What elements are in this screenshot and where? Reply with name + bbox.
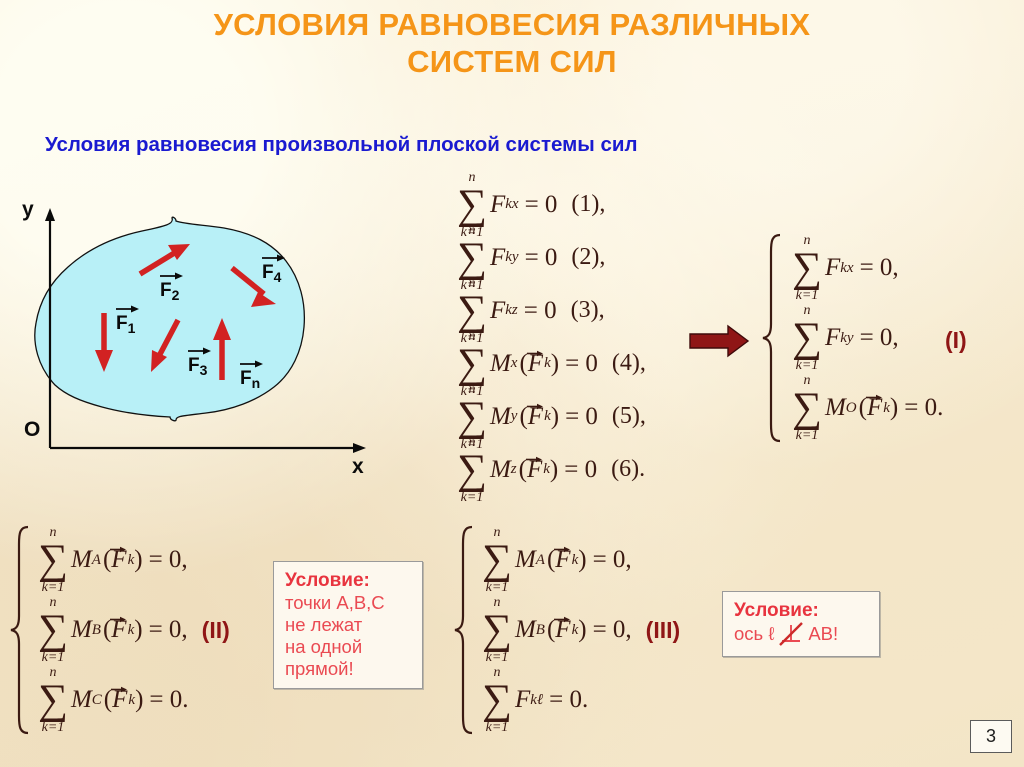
force-label-Fn: Fn [240,368,260,391]
system-II-equation-3: n ∑ k=1 MC (Fk) = 0. [36,665,230,735]
equation-4-body: M [490,350,511,378]
y-axis-label: y [22,198,34,222]
system-III-equation-1-subscript: A [536,552,545,569]
system-III-equation-3-body: F [515,686,530,714]
left-curly-brace-icon [760,232,784,444]
equation-5-body: M [490,403,511,431]
sum-lower-limit: k=1 [486,721,509,735]
sum-upper-limit: n [493,526,500,540]
equation-5-tag: (5), [612,403,646,430]
equation-5-rhs: = 0 [565,403,598,431]
system-II-equation-3-subscript: C [92,692,102,709]
force-label-Fn-base: F [240,368,252,389]
system-II-tag: (II) [202,617,230,644]
summation-symbol: n ∑ k=1 [455,400,489,434]
system-III: n ∑ k=1 MA (Fk) = 0, n ∑ k=1 MB (Fk) = 0… [452,524,680,736]
diagram-svg [0,190,400,490]
origin-label: O [24,418,40,442]
equation-1-subscript: kx [505,196,518,213]
summation-symbol: n ∑ k=1 [36,613,70,647]
sum-upper-limit: n [803,374,810,388]
system-II-equation-1-rhs: = 0, [149,546,188,574]
equation-2: n ∑ k=1 Fky = 0 (2), [455,231,646,284]
system-II-equation-3-rhs: = 0. [149,686,188,714]
equation-1: n ∑ k=1 Fkx = 0 (1), [455,178,646,231]
summation-symbol: n ∑ k=1 [790,391,824,425]
system-II-equation-3-body: M [71,686,92,714]
implies-arrow-icon [688,324,752,358]
condition-box-II: Условие: точки A,B,C не лежат на одной п… [273,561,423,689]
system-I-brace [760,232,784,444]
equation-4: n ∑ k=1 Mx (Fk) = 0 (4), [455,337,646,390]
condition-box-II-line-3: на одной [285,636,413,658]
equation-6-subscript: z [511,461,517,478]
x-axis-label: x [352,455,364,479]
system-III-brace [452,524,476,736]
sum-upper-limit: n [49,526,56,540]
equation-list-full: n ∑ k=1 Fkx = 0 (1), n ∑ k=1 Fky = 0 (2)… [455,178,646,496]
system-II-equation-2-body: M [71,616,92,644]
force-label-F1-index: 1 [128,320,136,336]
plane-body-shape [35,217,305,421]
system-I-equation-3-subscript: O [846,400,857,417]
condition-box-II-heading: Условие: [285,569,413,592]
force-label-F2-base: F [160,280,172,301]
sum-upper-limit: n [468,224,475,238]
summation-symbol: n ∑ k=1 [480,683,514,717]
force-label-F3-index: 3 [200,362,208,378]
system-I-equation-3-rhs: = 0. [904,394,943,422]
system-II-equation-1-subscript: A [92,552,101,569]
system-III-equation-1-rhs: = 0, [593,546,632,574]
system-III-equation-3: n ∑ k=1 Fkℓ = 0. [480,665,680,735]
condition-box-III-suffix: AB! [808,623,838,645]
sum-lower-limit: k=1 [486,651,509,665]
sum-upper-limit: n [493,596,500,610]
sum-lower-limit: k=1 [796,429,819,443]
system-III-equation-3-subscript: kℓ [530,692,543,709]
system-II-brace [8,524,32,736]
y-axis-arrowhead [45,208,55,221]
sum-upper-limit: n [803,234,810,248]
system-I-equation-1-rhs: = 0, [860,254,899,282]
summation-symbol: n ∑ k=1 [36,683,70,717]
equation-3: n ∑ k=1 Fkz = 0 (3), [455,284,646,337]
system-II-equation-2-subscript: B [92,622,101,639]
system-I-equation-1-body: F [825,254,840,282]
force-label-F4: F4 [262,262,281,285]
system-III-equation-2-subscript: B [536,622,545,639]
system-II-equation-1: n ∑ k=1 MA (Fk) = 0, [36,525,230,595]
equation-1-rhs: = 0 [525,191,558,219]
sum-upper-limit: n [803,304,810,318]
system-III-equation-2: n ∑ k=1 MB (Fk) = 0, (III) [480,595,680,665]
equation-6-body: M [490,456,511,484]
equation-2-tag: (2), [571,244,605,271]
summation-symbol: n ∑ k=1 [36,543,70,577]
system-I-equation-1-subscript: kx [840,260,853,277]
system-II-equation-2: n ∑ k=1 MB (Fk) = 0, (II) [36,595,230,665]
left-curly-brace-icon [8,524,32,736]
sum-lower-limit: k=1 [461,491,484,505]
condition-box-II-line-1: точки A,B,C [285,592,413,614]
equation-6-rhs: = 0 [564,456,597,484]
sum-upper-limit: n [468,171,475,185]
equation-4-subscript: x [511,355,518,372]
equation-1-tag: (1), [571,191,605,218]
page-title-line-2: СИСТЕМ СИЛ [0,43,1024,80]
sum-upper-limit: n [493,666,500,680]
page-title: УСЛОВИЯ РАВНОВЕСИЯ РАЗЛИЧНЫХ СИСТЕМ СИЛ [0,6,1024,80]
vector-F-glyph: F [555,546,571,574]
sum-lower-limit: k=1 [796,359,819,373]
vector-F-glyph: F [527,456,543,484]
sum-upper-limit: n [468,277,475,291]
sum-lower-limit: k=1 [42,581,65,595]
force-label-F2: F2 [160,280,179,303]
force-label-F4-index: 4 [274,269,282,285]
system-III-equation-2-rhs: = 0, [593,616,632,644]
vector-F-glyph: F [528,403,544,431]
summation-symbol: n ∑ k=1 [455,294,489,328]
equation-3-rhs: = 0 [524,297,557,325]
subtitle: Условия равновесия произвольной плоской … [45,133,638,157]
vector-F-glyph: F [111,616,127,644]
vector-overbar-icon [187,346,212,355]
system-III-equation-3-rhs: = 0. [549,686,588,714]
vector-overbar-icon [239,359,264,368]
vector-overbar-icon [159,271,184,280]
equation-1-body: F [490,191,505,219]
sum-lower-limit: k=1 [42,651,65,665]
equation-3-subscript: kz [505,302,518,319]
sum-upper-limit: n [468,330,475,344]
left-curly-brace-icon [452,524,476,736]
summation-symbol: n ∑ k=1 [790,251,824,285]
vector-overbar-icon [261,253,286,262]
force-label-F1-base: F [116,313,128,334]
condition-box-II-line-2: не лежат [285,614,413,636]
force-label-F3: F3 [188,355,207,378]
system-I-equation-2-rhs: = 0, [860,324,899,352]
force-label-F2-index: 2 [172,287,180,303]
vector-F-glyph: F [867,394,883,422]
condition-box-III-prefix: ось ℓ [734,623,774,645]
system-I-equation-3-body: M [825,394,846,422]
equation-3-body: F [490,297,505,325]
equation-5: n ∑ k=1 My (Fk) = 0 (5), [455,390,646,443]
force-system-diagram: y x O F1 F2 F3 F4 [0,190,400,490]
system-I-equation-3: n ∑ k=1 MO (Fk) = 0. [790,373,943,443]
sum-lower-limit: k=1 [42,721,65,735]
equation-4-tag: (4), [612,350,646,377]
equation-6: n ∑ k=1 Mz (Fk) = 0 (6). [455,443,646,496]
condition-box-III: Условие: ось ℓ AB! [722,591,880,657]
summation-symbol: n ∑ k=1 [455,241,489,275]
system-II-equation-1-body: M [71,546,92,574]
not-perpendicular-icon [778,622,804,646]
vector-F-glyph: F [528,350,544,378]
system-I-equation-2-body: F [825,324,840,352]
equation-2-rhs: = 0 [525,244,558,272]
system-I-equation-1: n ∑ k=1 Fkx = 0, [790,233,943,303]
summation-symbol: n ∑ k=1 [455,188,489,222]
sum-upper-limit: n [468,436,475,450]
equation-2-subscript: ky [505,249,518,266]
sum-upper-limit: n [49,596,56,610]
x-axis-arrowhead [353,443,366,453]
force-label-F3-base: F [188,355,200,376]
sum-upper-limit: n [468,383,475,397]
system-I-tag: (I) [945,327,967,354]
condition-box-III-line: ось ℓ AB! [734,622,870,646]
system-III-equation-1: n ∑ k=1 MA (Fk) = 0, [480,525,680,595]
equation-5-subscript: y [511,408,518,425]
summation-symbol: n ∑ k=1 [480,543,514,577]
sum-upper-limit: n [49,666,56,680]
sum-lower-limit: k=1 [486,581,509,595]
condition-box-III-heading: Условие: [734,599,870,622]
summation-symbol: n ∑ k=1 [790,321,824,355]
condition-box-II-line-4: прямой! [285,658,413,680]
force-label-F1: F1 [116,313,135,336]
vector-F-glyph: F [111,546,127,574]
page-title-line-1: УСЛОВИЯ РАВНОВЕСИЯ РАЗЛИЧНЫХ [0,6,1024,43]
system-III-equation-2-body: M [515,616,536,644]
system-III-equation-1-body: M [515,546,536,574]
system-I-equation-2: n ∑ k=1 Fky = 0, [790,303,943,373]
force-label-Fn-index: n [252,375,261,391]
sum-lower-limit: k=1 [796,289,819,303]
system-I: n ∑ k=1 Fkx = 0, n ∑ k=1 Fky = 0, n [760,232,943,444]
equation-6-tag: (6). [611,456,645,483]
system-III-tag: (III) [646,617,681,644]
vector-F-glyph: F [555,616,571,644]
vector-overbar-icon [115,304,140,313]
slide-canvas: УСЛОВИЯ РАВНОВЕСИЯ РАЗЛИЧНЫХ СИСТЕМ СИЛ … [0,0,1024,767]
equation-3-tag: (3), [571,297,605,324]
summation-symbol: n ∑ k=1 [455,347,489,381]
equation-2-body: F [490,244,505,272]
system-II-equation-2-rhs: = 0, [149,616,188,644]
system-I-equation-2-subscript: ky [840,330,853,347]
page-number-badge: 3 [970,720,1012,753]
summation-symbol: n ∑ k=1 [455,453,489,487]
equation-4-rhs: = 0 [565,350,598,378]
summation-symbol: n ∑ k=1 [480,613,514,647]
vector-F-glyph: F [112,686,128,714]
force-label-F4-base: F [262,262,274,283]
system-II: n ∑ k=1 MA (Fk) = 0, n ∑ k=1 MB (Fk) = 0… [8,524,230,736]
